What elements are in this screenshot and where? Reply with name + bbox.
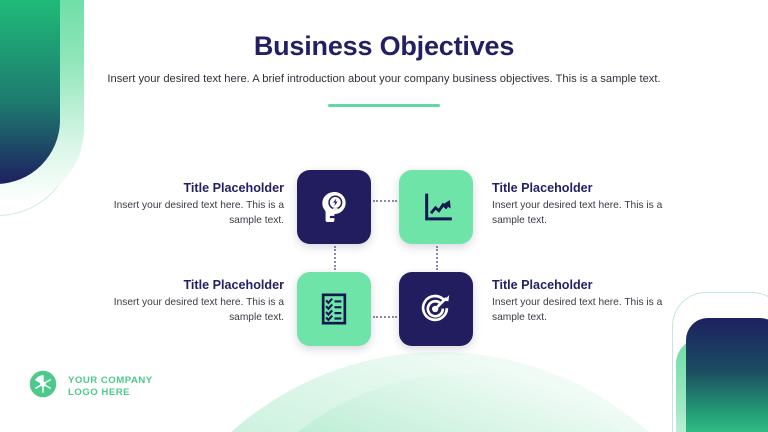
head-lightbulb-icon — [314, 187, 354, 227]
objective-title-1: Title Placeholder — [88, 181, 284, 195]
objective-description-1: Insert your desired text here. This is a… — [88, 199, 284, 228]
objective-tile-target[interactable] — [399, 272, 473, 346]
page-title: Business Objectives — [0, 31, 768, 62]
objective-block-2[interactable]: Title Placeholder Insert your desired te… — [492, 181, 688, 228]
objective-block-3[interactable]: Title Placeholder Insert your desired te… — [88, 278, 284, 325]
objective-description-2: Insert your desired text here. This is a… — [492, 199, 688, 228]
objective-title-2: Title Placeholder — [492, 181, 688, 195]
slide-header: Business Objectives Insert your desired … — [0, 0, 768, 107]
objective-description-4: Insert your desired text here. This is a… — [492, 296, 688, 325]
slide-subtitle: Insert your desired text here. A brief i… — [104, 71, 664, 87]
objective-block-4[interactable]: Title Placeholder Insert your desired te… — [492, 278, 688, 325]
company-logo-text: YOUR COMPANY LOGO HERE — [68, 375, 153, 398]
company-logo[interactable]: YOUR COMPANY LOGO HERE — [27, 368, 153, 405]
decoration-bottom-right-shape — [686, 318, 768, 432]
connector-top-horizontal — [373, 200, 397, 202]
objective-tile-checklist[interactable] — [297, 272, 371, 346]
objective-tile-idea[interactable] — [297, 170, 371, 244]
objective-title-3: Title Placeholder — [88, 278, 284, 292]
connector-bottom-horizontal — [373, 316, 397, 318]
objective-tile-growth[interactable] — [399, 170, 473, 244]
target-arrow-icon — [416, 289, 456, 329]
aperture-icon — [27, 368, 59, 405]
connector-left-vertical — [334, 246, 336, 270]
objective-icon-grid — [297, 170, 473, 346]
growth-chart-icon — [416, 187, 456, 227]
slide-canvas: Business Objectives Insert your desired … — [0, 0, 768, 432]
objective-block-1[interactable]: Title Placeholder Insert your desired te… — [88, 181, 284, 228]
objective-title-4: Title Placeholder — [492, 278, 688, 292]
title-divider — [328, 104, 440, 107]
connector-right-vertical — [436, 246, 438, 270]
objective-description-3: Insert your desired text here. This is a… — [88, 296, 284, 325]
checklist-icon — [314, 289, 354, 329]
